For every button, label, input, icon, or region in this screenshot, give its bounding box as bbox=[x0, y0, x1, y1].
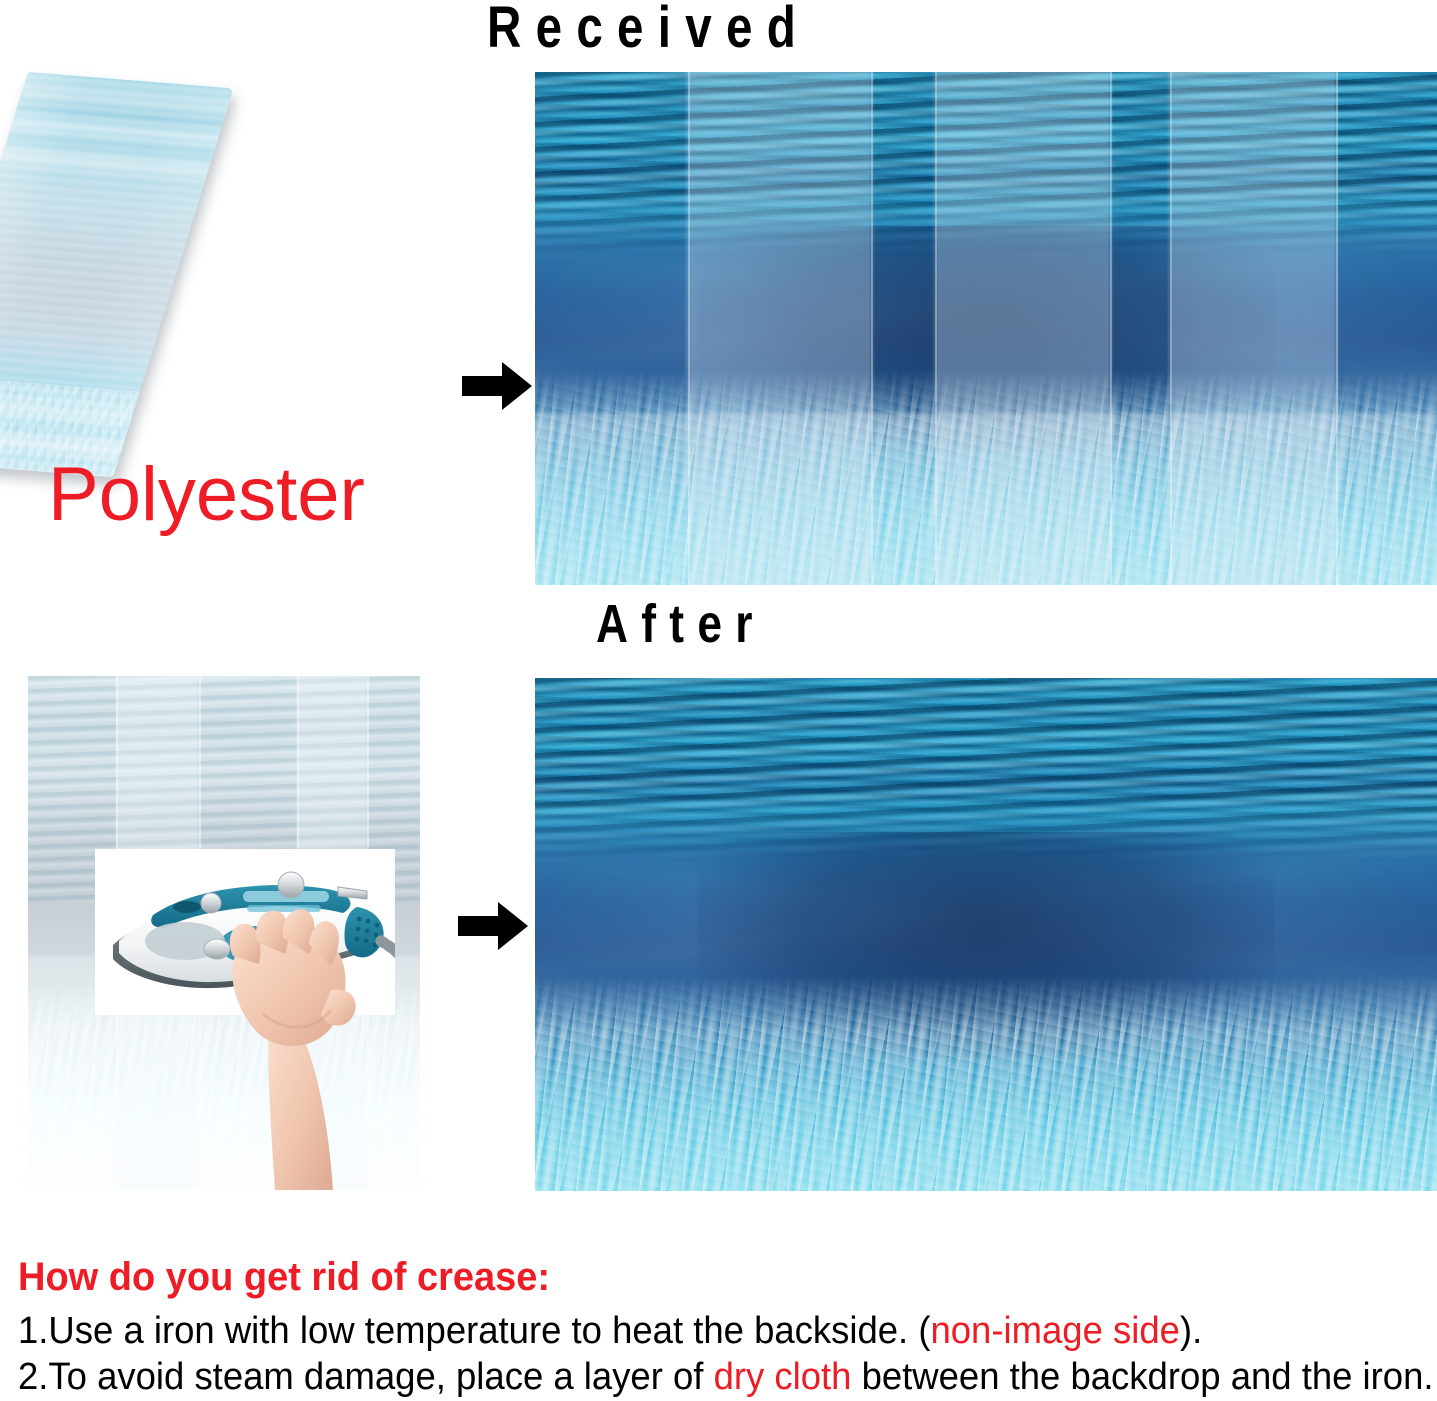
polyester-swatch-panel bbox=[0, 62, 460, 482]
step-text-part2: ). bbox=[1180, 1310, 1202, 1352]
step-highlight: dry cloth bbox=[714, 1356, 852, 1398]
step-text-part2: between the backdrop and the iron. bbox=[851, 1356, 1433, 1398]
polyester-label: Polyester bbox=[48, 455, 365, 535]
step-highlight: non-image side bbox=[930, 1310, 1179, 1352]
hand-icon bbox=[203, 894, 383, 1190]
sandy-floor-caustics bbox=[535, 976, 1437, 1191]
instruction-step-1: 1.Use a iron with low temperature to hea… bbox=[18, 1308, 1372, 1354]
step-text-part1: To avoid steam damage, place a layer of bbox=[48, 1356, 713, 1398]
ironing-demo-panel bbox=[28, 676, 420, 1190]
sandy-floor-caustics bbox=[535, 370, 1437, 585]
section-title-received: Received bbox=[487, 0, 810, 58]
after-backdrop-photo bbox=[535, 678, 1437, 1191]
instruction-step-2: 2.To avoid steam damage, place a layer o… bbox=[18, 1354, 1372, 1400]
folded-fabric-swatch bbox=[0, 72, 234, 477]
power-cord-coil bbox=[381, 941, 395, 969]
front-vent bbox=[173, 901, 201, 913]
section-title-after: After bbox=[596, 596, 766, 652]
received-backdrop-photo bbox=[535, 72, 1437, 585]
instructions-heading: How do you get rid of crease: bbox=[18, 1252, 1358, 1302]
step-text-part1: Use a iron with low temperature to heat … bbox=[48, 1310, 930, 1352]
right-arrow-icon bbox=[458, 898, 530, 954]
step-number: 2. bbox=[18, 1356, 48, 1398]
right-arrow-icon bbox=[462, 358, 534, 414]
instructions-block: How do you get rid of crease: 1.Use a ir… bbox=[18, 1252, 1428, 1400]
step-number: 1. bbox=[18, 1310, 48, 1352]
